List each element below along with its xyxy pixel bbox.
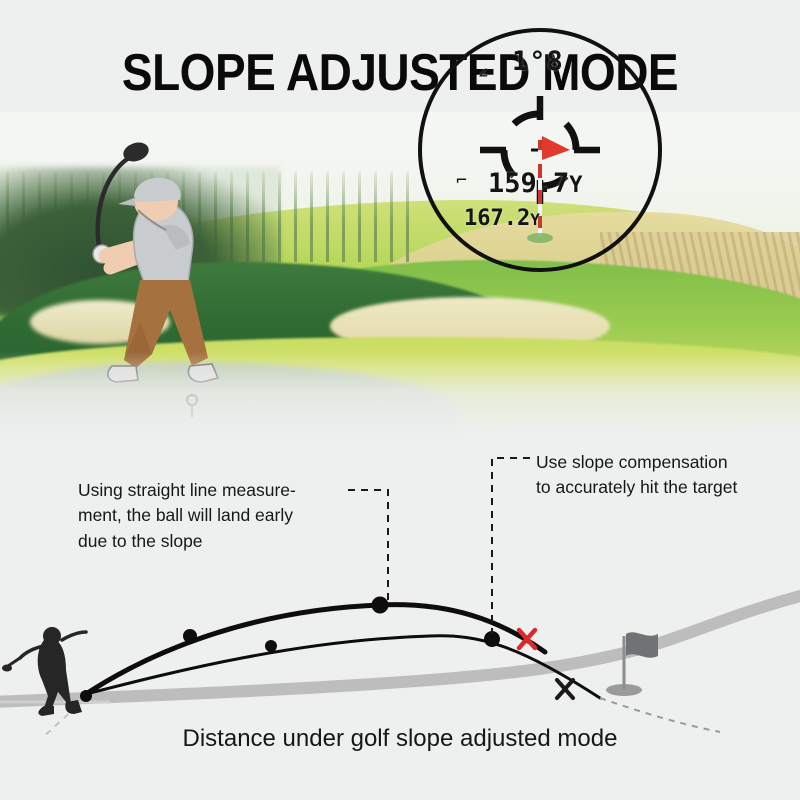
- angle-icon: ∠: [478, 64, 488, 84]
- scope-angle-value: 1°8: [512, 46, 564, 77]
- rangefinder-scope: ∠ 1°8 ⌐ 159.7Y 167.2Y: [418, 28, 662, 272]
- page-title: SLOPE ADJUSTED MODE: [0, 42, 800, 102]
- distance-secondary-unit: Y: [530, 210, 540, 229]
- distance-secondary-number: 167.2: [464, 206, 530, 231]
- trajectory-apex-dot: [372, 597, 389, 614]
- photo-fade: [0, 352, 800, 442]
- marker-black-x: [557, 680, 573, 698]
- distance-primary-number: 159.7: [488, 168, 569, 199]
- flag-icon: ⌐: [456, 170, 467, 191]
- scope-distance-primary: 159.7Y: [488, 168, 583, 199]
- golf-ball-origin: [80, 690, 92, 702]
- diagram-caption: Distance under golf slope adjusted mode: [0, 725, 800, 753]
- scope-view: ∠ 1°8 ⌐ 159.7Y 167.2Y: [418, 28, 662, 272]
- trajectory-dot: [265, 640, 277, 652]
- page-root: SLOPE ADJUSTED MODE: [0, 0, 800, 800]
- course-photo: [0, 112, 800, 442]
- leader-line-right: [492, 458, 530, 634]
- diagram-canvas: [0, 440, 800, 750]
- trajectory-dot: [183, 629, 197, 643]
- leader-line-left: [348, 490, 388, 600]
- target-flag-icon: [542, 136, 570, 160]
- scope-distance-secondary: 167.2Y: [464, 206, 540, 231]
- hole-flag-icon: [626, 632, 658, 657]
- trajectory-diagram: Using straight line measure- ment, the b…: [0, 440, 800, 800]
- distance-primary-unit: Y: [569, 173, 582, 198]
